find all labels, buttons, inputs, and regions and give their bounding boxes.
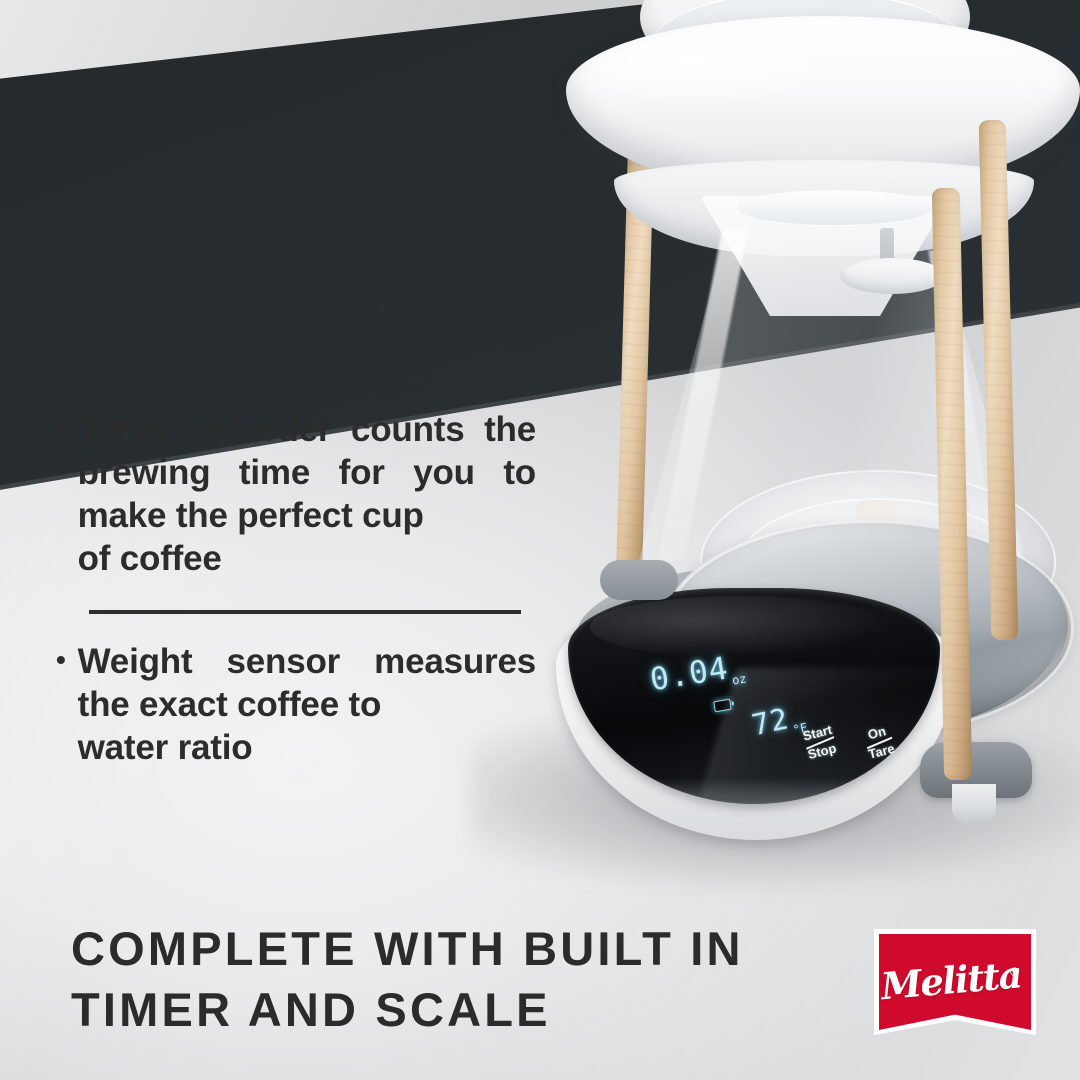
headline: COMPLETE WITH BUILT IN TIMER AND SCALE xyxy=(71,918,744,1040)
feature-bullet-1: • Timer recorder counts the brewing time… xyxy=(56,408,536,623)
feature-divider-line xyxy=(89,610,521,614)
panel-bottom-sheen xyxy=(568,778,940,804)
melitta-logo: Melitta ® xyxy=(874,929,1036,1035)
bullet-row: • Timer recorder counts the brewing time… xyxy=(56,408,536,623)
upper-bowl-highlight xyxy=(600,36,830,106)
bullet-dot-icon: • xyxy=(56,640,66,812)
feature-2-last: water ratio xyxy=(78,726,536,769)
temperature-value: 72 xyxy=(749,701,792,742)
base-foot-left xyxy=(600,560,678,600)
base-foot-tip xyxy=(952,784,996,824)
feature-bullet-2: • Weight sensor measures the exact coffe… xyxy=(56,640,536,812)
product-marketing-image: 0.04oz 72°F Start Stop On Tare • Timer r… xyxy=(0,0,1080,1080)
weight-unit: oz xyxy=(731,672,747,688)
bullet-row: • Weight sensor measures the exact coffe… xyxy=(56,640,536,812)
feature-1-main: Timer recorder counts the brewing time f… xyxy=(78,410,536,535)
carafe-rim xyxy=(736,190,934,226)
headline-line-2: TIMER AND SCALE xyxy=(71,979,744,1040)
registered-trademark-icon: ® xyxy=(1010,965,1019,979)
feature-2-text: Weight sensor measures the exact coffee … xyxy=(78,640,536,812)
bullet-dot-icon: • xyxy=(56,408,66,623)
feature-2-main: Weight sensor measures the exact coffee … xyxy=(78,642,536,724)
logo-wordmark: Melitta xyxy=(870,922,1041,1042)
feature-1-last: of coffee xyxy=(78,537,536,580)
headline-line-1: COMPLETE WITH BUILT IN xyxy=(71,918,744,979)
feature-1-text: Timer recorder counts the brewing time f… xyxy=(78,408,536,623)
